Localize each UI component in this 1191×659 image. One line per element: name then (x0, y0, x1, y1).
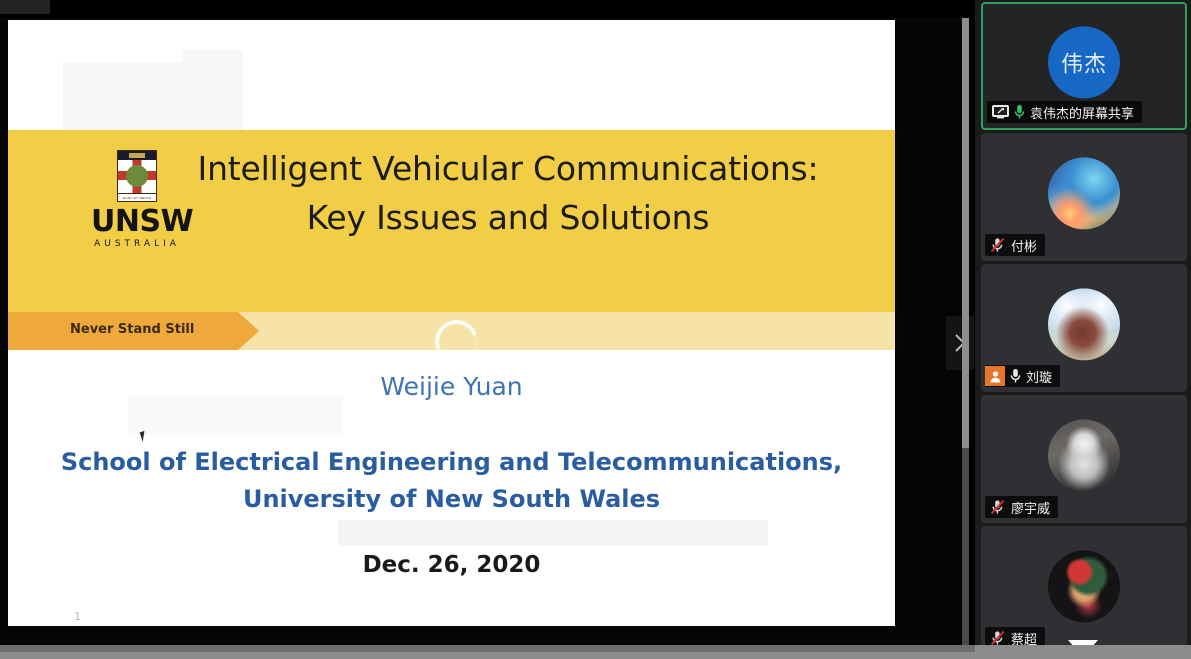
unsw-crest-icon: MANU ET MENTE (117, 150, 157, 202)
avatar (1048, 157, 1120, 229)
slide-author: Weijie Yuan (8, 372, 895, 401)
top-bar (0, 0, 975, 18)
bottom-bar-inner (0, 645, 975, 652)
slide-affiliation-line2: University of New South Wales (8, 481, 895, 518)
slide-affiliation: School of Electrical Engineering and Tel… (8, 444, 895, 518)
participant-tile[interactable]: 刘璇 (981, 264, 1187, 392)
participant-tile[interactable]: 伟杰 袁伟杰的屏幕共享 (981, 2, 1187, 130)
participant-name: 刘璇 (1026, 367, 1052, 386)
participant-tile[interactable]: 蔡超 (981, 526, 1187, 654)
slide-artifact (128, 395, 343, 435)
unsw-wordmark: UNSW (91, 206, 183, 238)
host-badge (985, 366, 1005, 386)
next-slide-button[interactable] (946, 316, 974, 370)
screen-share-icon (992, 105, 1009, 119)
participant-name: 廖宇威 (1011, 498, 1050, 517)
presentation-slide[interactable]: MANU ET MENTE UNSW AUSTRALIA Intelligent… (8, 20, 895, 626)
microphone-muted-icon (990, 499, 1006, 515)
avatar: 伟杰 (1048, 26, 1120, 98)
shared-screen-region[interactable]: MANU ET MENTE UNSW AUSTRALIA Intelligent… (0, 18, 968, 645)
slide-artifact (338, 520, 768, 546)
participant-label: 刘璇 (985, 365, 1060, 387)
participant-sidebar[interactable]: 伟杰 袁伟杰的屏幕共享 (975, 0, 1191, 659)
zoom-meeting-window: MANU ET MENTE UNSW AUSTRALIA Intelligent… (0, 0, 1191, 659)
participant-name: 袁伟杰的屏幕共享 (1030, 103, 1134, 122)
participant-label: 付彬 (985, 234, 1045, 256)
participant-label: 廖宇威 (985, 496, 1058, 518)
host-person-icon (989, 370, 1002, 383)
avatar-initials: 伟杰 (1061, 46, 1107, 78)
unsw-logo: MANU ET MENTE UNSW AUSTRALIA (91, 150, 183, 250)
microphone-icon (1014, 104, 1025, 120)
avatar (1048, 288, 1120, 360)
crest-motto: MANU ET MENTE (118, 193, 156, 201)
avatar (1048, 419, 1120, 491)
unsw-subtitle: AUSTRALIA (91, 238, 183, 250)
participant-tile[interactable]: 付彬 (981, 133, 1187, 261)
scrollbar-thumb[interactable] (962, 18, 969, 448)
slide-title: Intelligent Vehicular Communications: Ke… (193, 144, 823, 242)
avatar (1048, 550, 1120, 622)
participant-tile[interactable]: 廖宇威 (981, 395, 1187, 523)
slide-date: Dec. 26, 2020 (8, 552, 895, 578)
slide-title-banner: MANU ET MENTE UNSW AUSTRALIA Intelligent… (8, 130, 895, 312)
tagline-text: Never Stand Still (70, 322, 194, 337)
slide-affiliation-line1: School of Electrical Engineering and Tel… (8, 444, 895, 481)
participant-label: 袁伟杰的屏幕共享 (987, 101, 1142, 123)
bottom-bar (0, 645, 1191, 659)
slide-page-number: 1 (74, 610, 81, 623)
participant-name: 付彬 (1011, 236, 1037, 255)
share-region-scrollbar[interactable] (962, 18, 969, 645)
top-bar-chip (0, 0, 50, 14)
microphone-icon (1010, 368, 1021, 384)
microphone-muted-icon (990, 237, 1006, 253)
